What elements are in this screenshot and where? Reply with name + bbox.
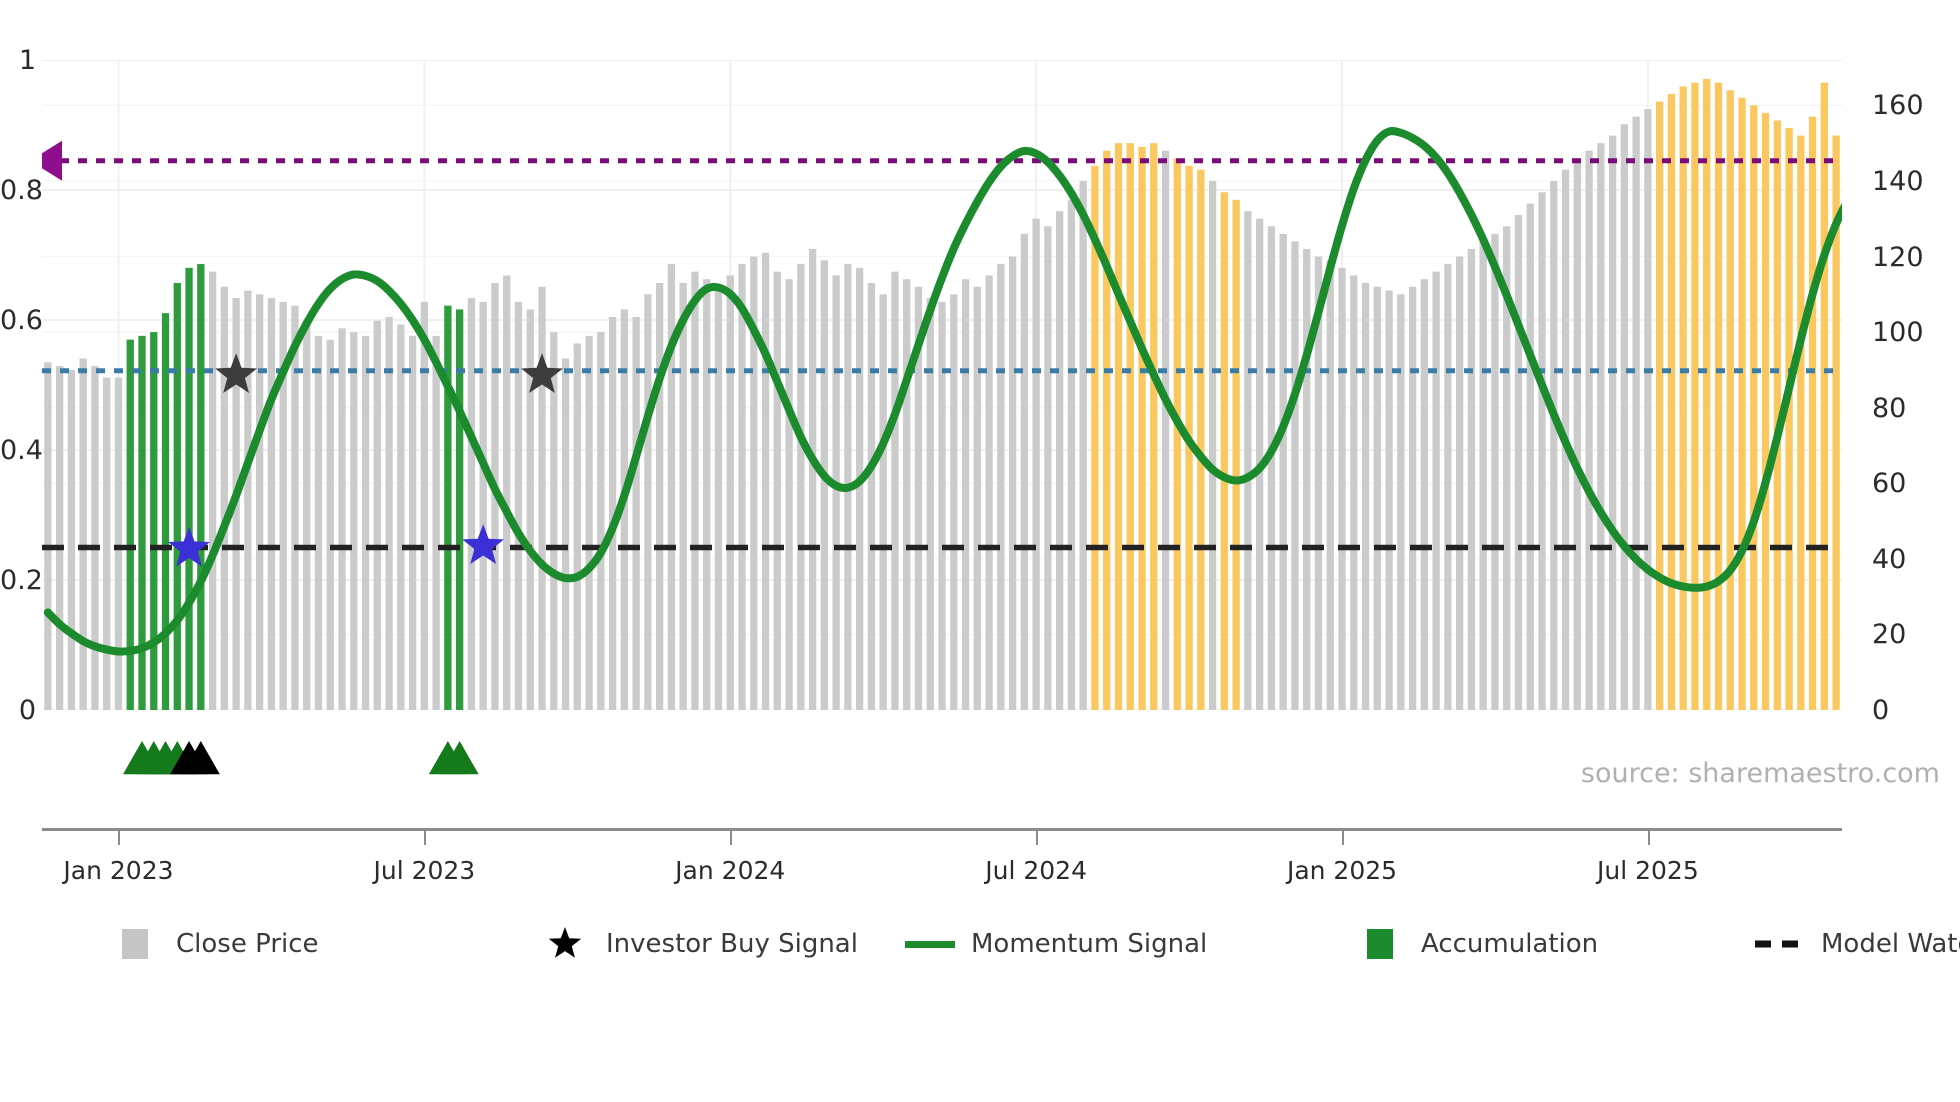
legend-item[interactable]: Momentum Signal bbox=[903, 925, 1353, 963]
square-swatch-icon bbox=[108, 927, 162, 961]
square-swatch-icon bbox=[1353, 927, 1407, 961]
x-axis-tick-mark bbox=[730, 831, 732, 845]
legend-item[interactable]: Investor Buy Signal bbox=[538, 925, 903, 963]
x-axis-tick-label: Jul 2025 bbox=[1597, 858, 1699, 883]
x-axis-tick-label: Jan 2025 bbox=[1287, 858, 1397, 883]
chart-page: 00.20.40.60.81 020406080100120140160 Jan… bbox=[0, 0, 1960, 1102]
x-axis-tick-mark bbox=[1036, 831, 1038, 845]
star-icon bbox=[538, 927, 592, 961]
x-axis-tick-mark bbox=[118, 831, 120, 845]
x-axis-tick-mark bbox=[424, 831, 426, 845]
x-axis-tick-label: Jan 2024 bbox=[675, 858, 785, 883]
chart-legend: Close PriceInvestor Buy SignalMomentum S… bbox=[108, 925, 1938, 963]
legend-item-label: Accumulation bbox=[1421, 931, 1598, 957]
x-axis-tick-mark bbox=[1648, 831, 1650, 845]
legend-item-label: Model Watching bbox=[1821, 931, 1960, 957]
x-axis-tick-label: Jul 2023 bbox=[373, 858, 475, 883]
x-axis-tick-label: Jul 2024 bbox=[985, 858, 1087, 883]
solid-line-icon bbox=[903, 927, 957, 961]
dashed-line-icon bbox=[1753, 927, 1807, 961]
accumulation-marker-row bbox=[42, 730, 1842, 790]
legend-item[interactable]: Accumulation bbox=[1353, 925, 1753, 963]
legend-item-label: Investor Buy Signal bbox=[606, 931, 858, 957]
x-axis-line bbox=[42, 828, 1842, 831]
legend-item[interactable]: Model Watching bbox=[1753, 925, 1960, 963]
legend-item-label: Close Price bbox=[176, 931, 319, 957]
x-axis-tick-label: Jan 2023 bbox=[63, 858, 173, 883]
legend-item[interactable]: Close Price bbox=[108, 925, 538, 963]
legend-item-label: Momentum Signal bbox=[971, 931, 1207, 957]
x-axis-tick-mark bbox=[1342, 831, 1344, 845]
